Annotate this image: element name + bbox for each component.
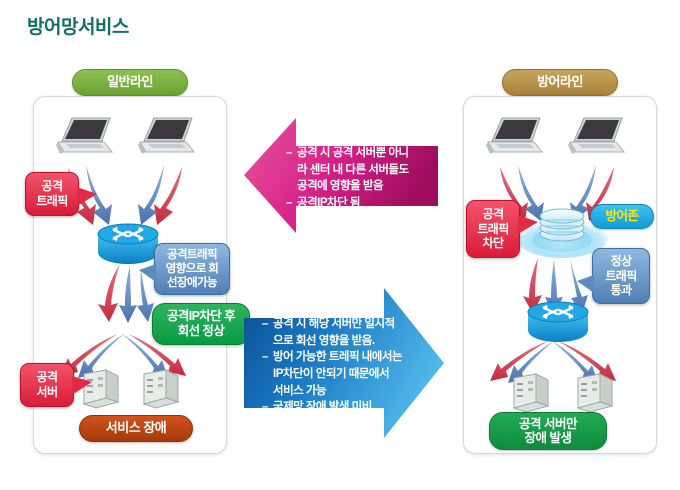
page-title: 방어망서비스 bbox=[27, 12, 129, 39]
arrow-text-line: 국제망 장애 발생 미비 bbox=[273, 399, 372, 416]
callout-line: 차단 bbox=[483, 236, 504, 250]
arrow-text-line: 공격 시 공격 서버뿐 아니 bbox=[297, 145, 409, 162]
callout-line: 공격 bbox=[37, 370, 58, 384]
arrow-text-line: 라 센터 내 다른 서버들도 bbox=[297, 162, 409, 179]
callout-tail bbox=[72, 376, 92, 395]
arrow-pink-text: –공격 시 공격 서버뿐 아니 라 센터 내 다른 서버들도 공격에 영향을 받… bbox=[286, 145, 432, 212]
callout-line: 회선 정상 bbox=[178, 324, 224, 338]
server-icon bbox=[504, 372, 552, 416]
arrow-blue-text: –공격 시 해당 서버만 일시적 으로 회선 영향을 받음. –방어 가능한 트… bbox=[262, 316, 422, 416]
arrow-general-line-summary: –공격 시 공격 서버뿐 아니 라 센터 내 다른 서버들도 공격에 영향을 받… bbox=[244, 118, 438, 233]
arrow-text-line: 으로 회선 영향을 받음. bbox=[273, 333, 375, 350]
callout-line: 정상 bbox=[611, 254, 632, 268]
callout-line: 선장애가능 bbox=[167, 277, 217, 289]
bullet-indent bbox=[286, 162, 297, 179]
laptop-icon bbox=[566, 114, 630, 162]
server-icon bbox=[568, 372, 616, 416]
badge-line: 장애 발생 bbox=[525, 431, 572, 445]
callout-normal-traffic-pass: 정상 트래픽 통과 bbox=[592, 248, 650, 304]
bullet-indent bbox=[262, 383, 273, 400]
badge-line: 공격 서버만 bbox=[519, 417, 577, 431]
callout-line: 서버 bbox=[37, 385, 58, 399]
callout-line-failure: 공격트래픽 영향으로 회 선장애가능 bbox=[154, 243, 230, 295]
callout-line: 트래픽 bbox=[477, 222, 508, 236]
laptop-icon bbox=[54, 114, 118, 162]
laptop-icon bbox=[136, 114, 200, 162]
badge-service-failure: 서비스 장애 bbox=[79, 415, 193, 442]
callout-tail bbox=[139, 264, 156, 282]
callout-line: 공격 bbox=[42, 179, 63, 193]
server-icon bbox=[134, 368, 182, 412]
bullet-dash: – bbox=[286, 195, 297, 212]
laptop-icon bbox=[484, 114, 548, 162]
bullet-indent bbox=[262, 333, 273, 350]
callout-line: 통과 bbox=[611, 283, 632, 297]
arrow-defense-line-summary: –공격 시 해당 서버만 일시적 으로 회선 영향을 받음. –방어 가능한 트… bbox=[244, 288, 444, 438]
bullet-indent bbox=[262, 366, 273, 383]
callout-tail bbox=[77, 187, 97, 206]
badge-defense-line: 방어라인 bbox=[502, 69, 618, 96]
arrow-text-line: 방어 가능한 트레픽 내에서는 bbox=[273, 349, 402, 366]
bullet-dash: – bbox=[262, 316, 273, 333]
arrow-text-line: 서비스 가능 bbox=[273, 383, 326, 400]
arrow-text-line: 공격에 영향을 받음 bbox=[297, 178, 383, 195]
arrow-text-line: 공격 시 해당 서버만 일시적 bbox=[273, 316, 395, 333]
callout-attack-server: 공격 서버 bbox=[20, 363, 74, 407]
callout-attack-traffic-blocked: 공격 트래픽 차단 bbox=[466, 200, 520, 258]
callout-tail bbox=[518, 215, 538, 234]
diagram-canvas: 방어망서비스 일반라인 bbox=[0, 0, 680, 490]
bullet-dash: – bbox=[262, 349, 273, 366]
callout-line: 공격트래픽 bbox=[167, 249, 217, 261]
bullet-dash: – bbox=[286, 145, 297, 162]
callout-line-normal: 공격IP차단 후 회선 정상 bbox=[152, 303, 250, 345]
bullet-indent bbox=[286, 178, 297, 195]
badge-defense-zone: 방어존 bbox=[590, 204, 654, 229]
callout-tail bbox=[577, 275, 594, 293]
arrow-text-line: 공격IP차단 됨 bbox=[297, 195, 360, 212]
callout-line: 공격 bbox=[483, 207, 504, 221]
badge-general-line: 일반라인 bbox=[72, 69, 188, 96]
callout-line: 영향으로 회 bbox=[166, 263, 219, 275]
arrow-text-line: IP차단이 안되기 때문에서 bbox=[273, 366, 389, 383]
callout-line: 공격IP차단 후 bbox=[167, 309, 235, 323]
callout-line: 트래픽 bbox=[36, 194, 67, 208]
bullet-dash: – bbox=[262, 399, 273, 416]
callout-line: 트래픽 bbox=[605, 269, 636, 283]
callout-attack-traffic: 공격 트래픽 bbox=[25, 172, 79, 216]
router-icon bbox=[94, 222, 162, 266]
badge-attack-server-only-failure: 공격 서버만 장애 발생 bbox=[489, 412, 607, 450]
